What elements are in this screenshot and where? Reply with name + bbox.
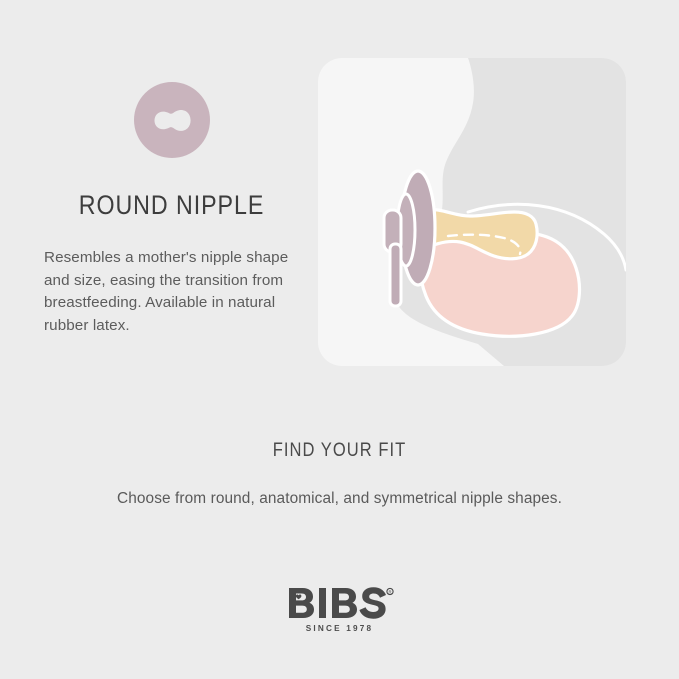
round-nipple-shape-icon (132, 80, 212, 160)
feature-badge (44, 80, 299, 160)
brand-logo: R SINCE 1978 (0, 586, 679, 633)
infographic-page: ROUND NIPPLE Resembles a mother's nipple… (0, 0, 679, 679)
illustration-panel (318, 58, 626, 366)
find-your-fit-block: FIND YOUR FIT Choose from round, anatomi… (0, 440, 679, 508)
bibs-wordmark: R (286, 586, 394, 620)
pacifier-handle (390, 244, 401, 306)
baby-head-cross-section-illustration (318, 58, 626, 366)
logo-tagline: SINCE 1978 (306, 624, 374, 633)
feature-column: ROUND NIPPLE Resembles a mother's nipple… (44, 80, 299, 337)
heart-icon (295, 595, 301, 600)
svg-text:R: R (388, 590, 391, 595)
find-your-fit-subtitle: Choose from round, anatomical, and symme… (0, 490, 679, 508)
feature-title: ROUND NIPPLE (62, 190, 281, 221)
feature-description: Resembles a mother's nipple shape and si… (44, 247, 299, 337)
find-your-fit-title: FIND YOUR FIT (44, 440, 635, 462)
